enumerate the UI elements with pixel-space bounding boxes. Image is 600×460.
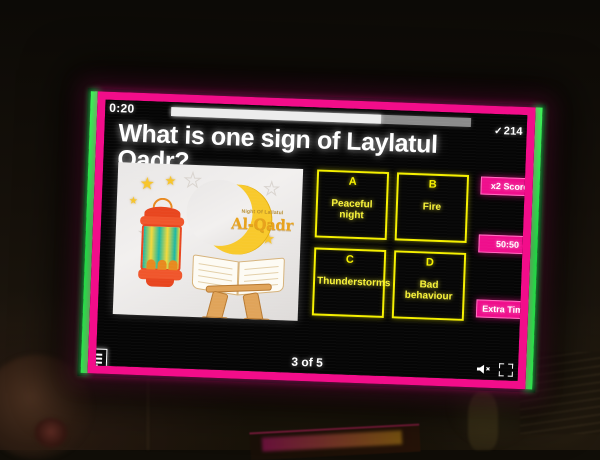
answer-letter-b: B [398, 177, 466, 191]
lantern-icon [136, 197, 187, 291]
answer-option-b[interactable]: B Fire [395, 172, 469, 243]
answer-option-a[interactable]: A Peaceful night [315, 169, 389, 240]
answer-letter-a: A [319, 175, 387, 189]
answer-text-a: Peaceful night [319, 198, 384, 222]
star-icon: ★ [129, 197, 138, 207]
powerup-fifty-fifty[interactable]: 50:50 [478, 234, 527, 254]
illustration-caption: Night Of Lailatul Al-Qadr [224, 208, 301, 235]
answer-text-b: Fire [400, 201, 464, 214]
answer-option-d[interactable]: D Bad behaviour [392, 250, 466, 321]
star-icon: ★ [139, 175, 155, 193]
rehal-stand-icon [198, 283, 277, 321]
lantern-body [140, 224, 182, 271]
powerup-double-score[interactable]: x2 Score [480, 176, 527, 196]
star-icon: ★ [164, 174, 176, 187]
hamburger-menu-icon[interactable] [96, 348, 108, 370]
answer-letter-d: D [396, 255, 464, 269]
score-value: 214 [504, 125, 523, 138]
fullscreen-icon[interactable] [499, 363, 513, 377]
powerup-extra-time[interactable]: Extra Time [476, 299, 527, 319]
speaker-mute-icon[interactable] [476, 362, 492, 376]
wall-seam [147, 372, 149, 450]
star-outline-icon: ★ [263, 180, 280, 199]
lantern-foot [146, 278, 174, 287]
speaker-mute-glyph [476, 362, 492, 376]
countdown-timer: 0:20 [109, 101, 135, 116]
answer-text-d: Bad behaviour [396, 278, 461, 302]
quiz-screen: 0:20 ✓214 What is one sign of Laylatul Q… [96, 100, 527, 381]
answer-letter-c: C [316, 252, 384, 266]
illustration-caption-big: Al-Qadr [224, 214, 301, 235]
page-indicator: 3 of 5 [96, 347, 518, 376]
background-vase [468, 392, 498, 450]
answer-text-c: Thunderstorms [317, 276, 381, 289]
answer-option-c[interactable]: C Thunderstorms [312, 247, 386, 318]
quiz-frame-border: 0:20 ✓214 What is one sign of Laylatul Q… [88, 91, 536, 389]
tv-display: 0:20 ✓214 What is one sign of Laylatul Q… [77, 88, 545, 393]
background-object-left-detail [34, 418, 68, 448]
question-image: ★ ★ ★ ★ ★ ★ ★ ★ ★ Night Of Lailatul Al-Q… [113, 162, 303, 321]
